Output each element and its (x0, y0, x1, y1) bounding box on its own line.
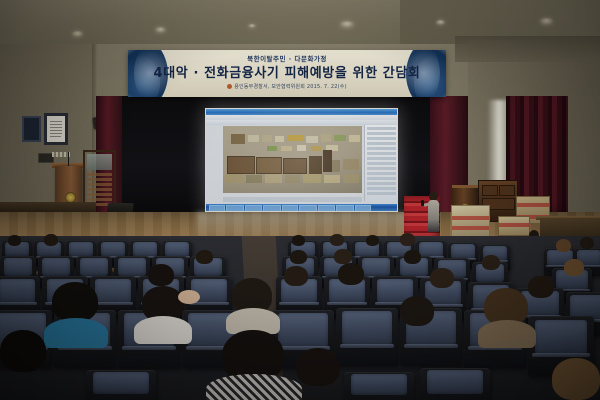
audience-head (44, 234, 58, 246)
audience-head (330, 234, 344, 246)
projection-screen (205, 108, 398, 212)
audience-head (196, 250, 213, 264)
banner-title: 4대악 · 전화금융사기 피해예방을 위한 간담회 (128, 62, 446, 81)
banner-subtitle: 용인동부경찰서, 보안협력위원회 2015. 7. 22(수) (128, 83, 446, 90)
event-banner: 북한이탈주민 · 다문화가정 4대악 · 전화금융사기 피해예방을 위한 간담회… (128, 50, 446, 97)
seat (420, 368, 490, 400)
audience-arm (178, 290, 200, 304)
downlight-icon (72, 31, 83, 37)
wall-baseboard (0, 202, 96, 212)
wall-plaque (22, 116, 41, 142)
seat (336, 308, 398, 366)
audience-head (404, 250, 421, 264)
framed-certificate (44, 113, 68, 145)
audience-head (8, 235, 21, 246)
police-emblem-icon (227, 84, 232, 89)
banner-subtitle-text: 용인동부경찰서, 보안협력위원회 2015. 7. 22(수) (234, 84, 347, 90)
downlight-icon (436, 20, 445, 25)
window-side-panel (364, 125, 397, 201)
door-glass-panel (87, 154, 112, 170)
stacked-donation-boxes (451, 205, 490, 237)
microphone-icon (421, 200, 424, 206)
downlight-icon (155, 27, 166, 33)
audience-head (580, 237, 594, 249)
audience-head (292, 235, 305, 246)
right-soffit (455, 36, 600, 62)
audience-head (366, 235, 379, 246)
audience-head (290, 250, 307, 264)
downlight-icon (540, 18, 553, 25)
downlight-icon (340, 21, 354, 28)
seat (344, 372, 414, 400)
projected-desktop (206, 109, 397, 211)
downlight-icon (248, 24, 256, 28)
window-statusbar (223, 197, 362, 202)
projected-photo (223, 126, 362, 193)
auditorium-photo: 북한이탈주민 · 다문화가정 4대악 · 전화금융사기 피해예방을 위한 간담회… (0, 0, 600, 400)
audience-head (400, 233, 415, 246)
podium-microphone (68, 152, 69, 166)
audience-head (482, 255, 500, 270)
audience-head (564, 259, 584, 276)
seat (86, 370, 156, 400)
audience-head (556, 239, 571, 252)
stacked-donation-boxes (498, 216, 530, 236)
audience-head (334, 249, 352, 264)
